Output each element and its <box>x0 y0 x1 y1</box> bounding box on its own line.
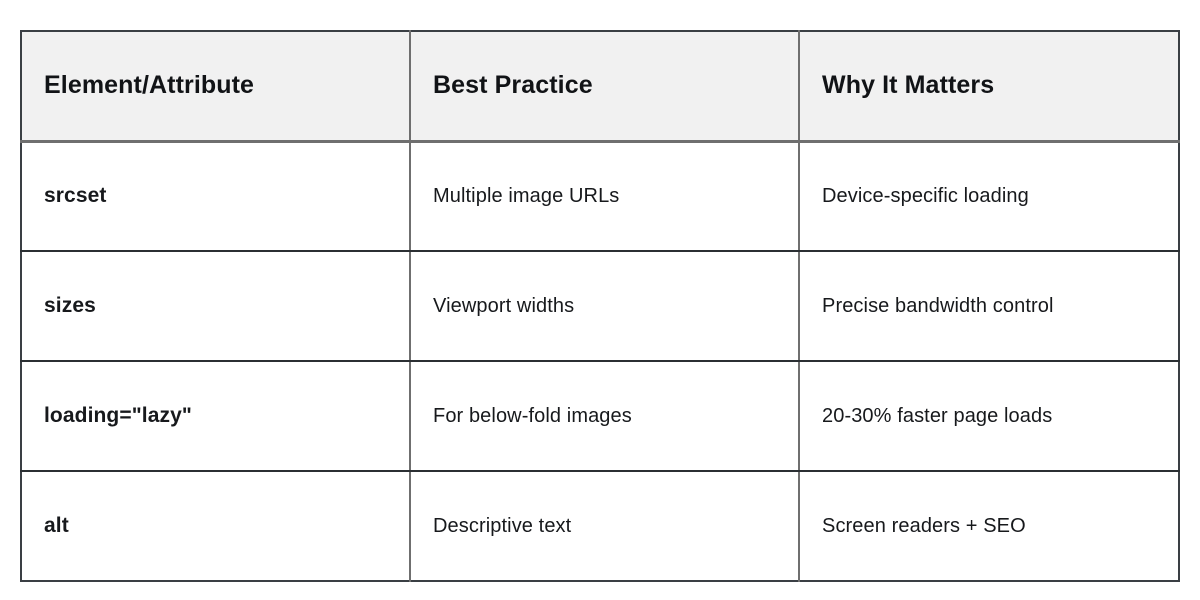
cell-why-it-matters: Precise bandwidth control <box>799 251 1179 361</box>
table-container: Element/Attribute Best Practice Why It M… <box>20 30 1178 582</box>
table-row: alt Descriptive text Screen readers + SE… <box>21 471 1179 581</box>
cell-element-attribute: loading="lazy" <box>21 361 410 471</box>
cell-best-practice: For below-fold images <box>410 361 799 471</box>
table-row: loading="lazy" For below-fold images 20-… <box>21 361 1179 471</box>
cell-why-it-matters: Device-specific loading <box>799 141 1179 251</box>
cell-element-attribute: alt <box>21 471 410 581</box>
image-best-practices-table: Element/Attribute Best Practice Why It M… <box>20 30 1180 582</box>
column-header-element-attribute: Element/Attribute <box>21 31 410 141</box>
cell-why-it-matters: Screen readers + SEO <box>799 471 1179 581</box>
cell-element-attribute: srcset <box>21 141 410 251</box>
page-root: Element/Attribute Best Practice Why It M… <box>0 0 1200 600</box>
cell-why-it-matters: 20-30% faster page loads <box>799 361 1179 471</box>
table-row: sizes Viewport widths Precise bandwidth … <box>21 251 1179 361</box>
cell-best-practice: Viewport widths <box>410 251 799 361</box>
column-header-best-practice: Best Practice <box>410 31 799 141</box>
cell-best-practice: Descriptive text <box>410 471 799 581</box>
table-header-row: Element/Attribute Best Practice Why It M… <box>21 31 1179 141</box>
table-row: srcset Multiple image URLs Device-specif… <box>21 141 1179 251</box>
cell-element-attribute: sizes <box>21 251 410 361</box>
cell-best-practice: Multiple image URLs <box>410 141 799 251</box>
table-body: srcset Multiple image URLs Device-specif… <box>21 141 1179 581</box>
table-header: Element/Attribute Best Practice Why It M… <box>21 31 1179 141</box>
column-header-why-it-matters: Why It Matters <box>799 31 1179 141</box>
